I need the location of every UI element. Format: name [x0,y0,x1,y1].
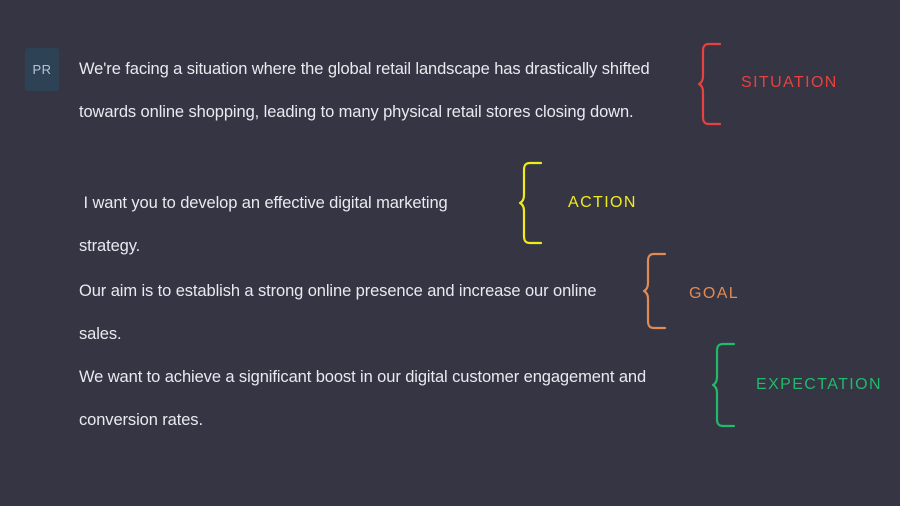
label-action: ACTION [568,194,637,212]
text-block-goal: Our aim is to establish a strong online … [79,270,639,356]
brace-situation [698,43,728,125]
text-block-action: I want you to develop an effective digit… [79,182,509,268]
prompt-framework-canvas: PR We're facing a situation where the gl… [0,0,900,506]
brace-action [519,162,549,244]
text-block-situation: We're facing a situation where the globa… [79,48,694,134]
brace-goal [643,253,673,329]
text-block-expectation: We want to achieve a significant boost i… [79,356,714,442]
label-expectation: EXPECTATION [756,376,882,394]
brace-expectation [712,343,742,427]
label-goal: GOAL [689,285,739,303]
avatar: PR [25,48,59,91]
avatar-initials: PR [32,62,51,77]
label-situation: SITUATION [741,74,838,92]
